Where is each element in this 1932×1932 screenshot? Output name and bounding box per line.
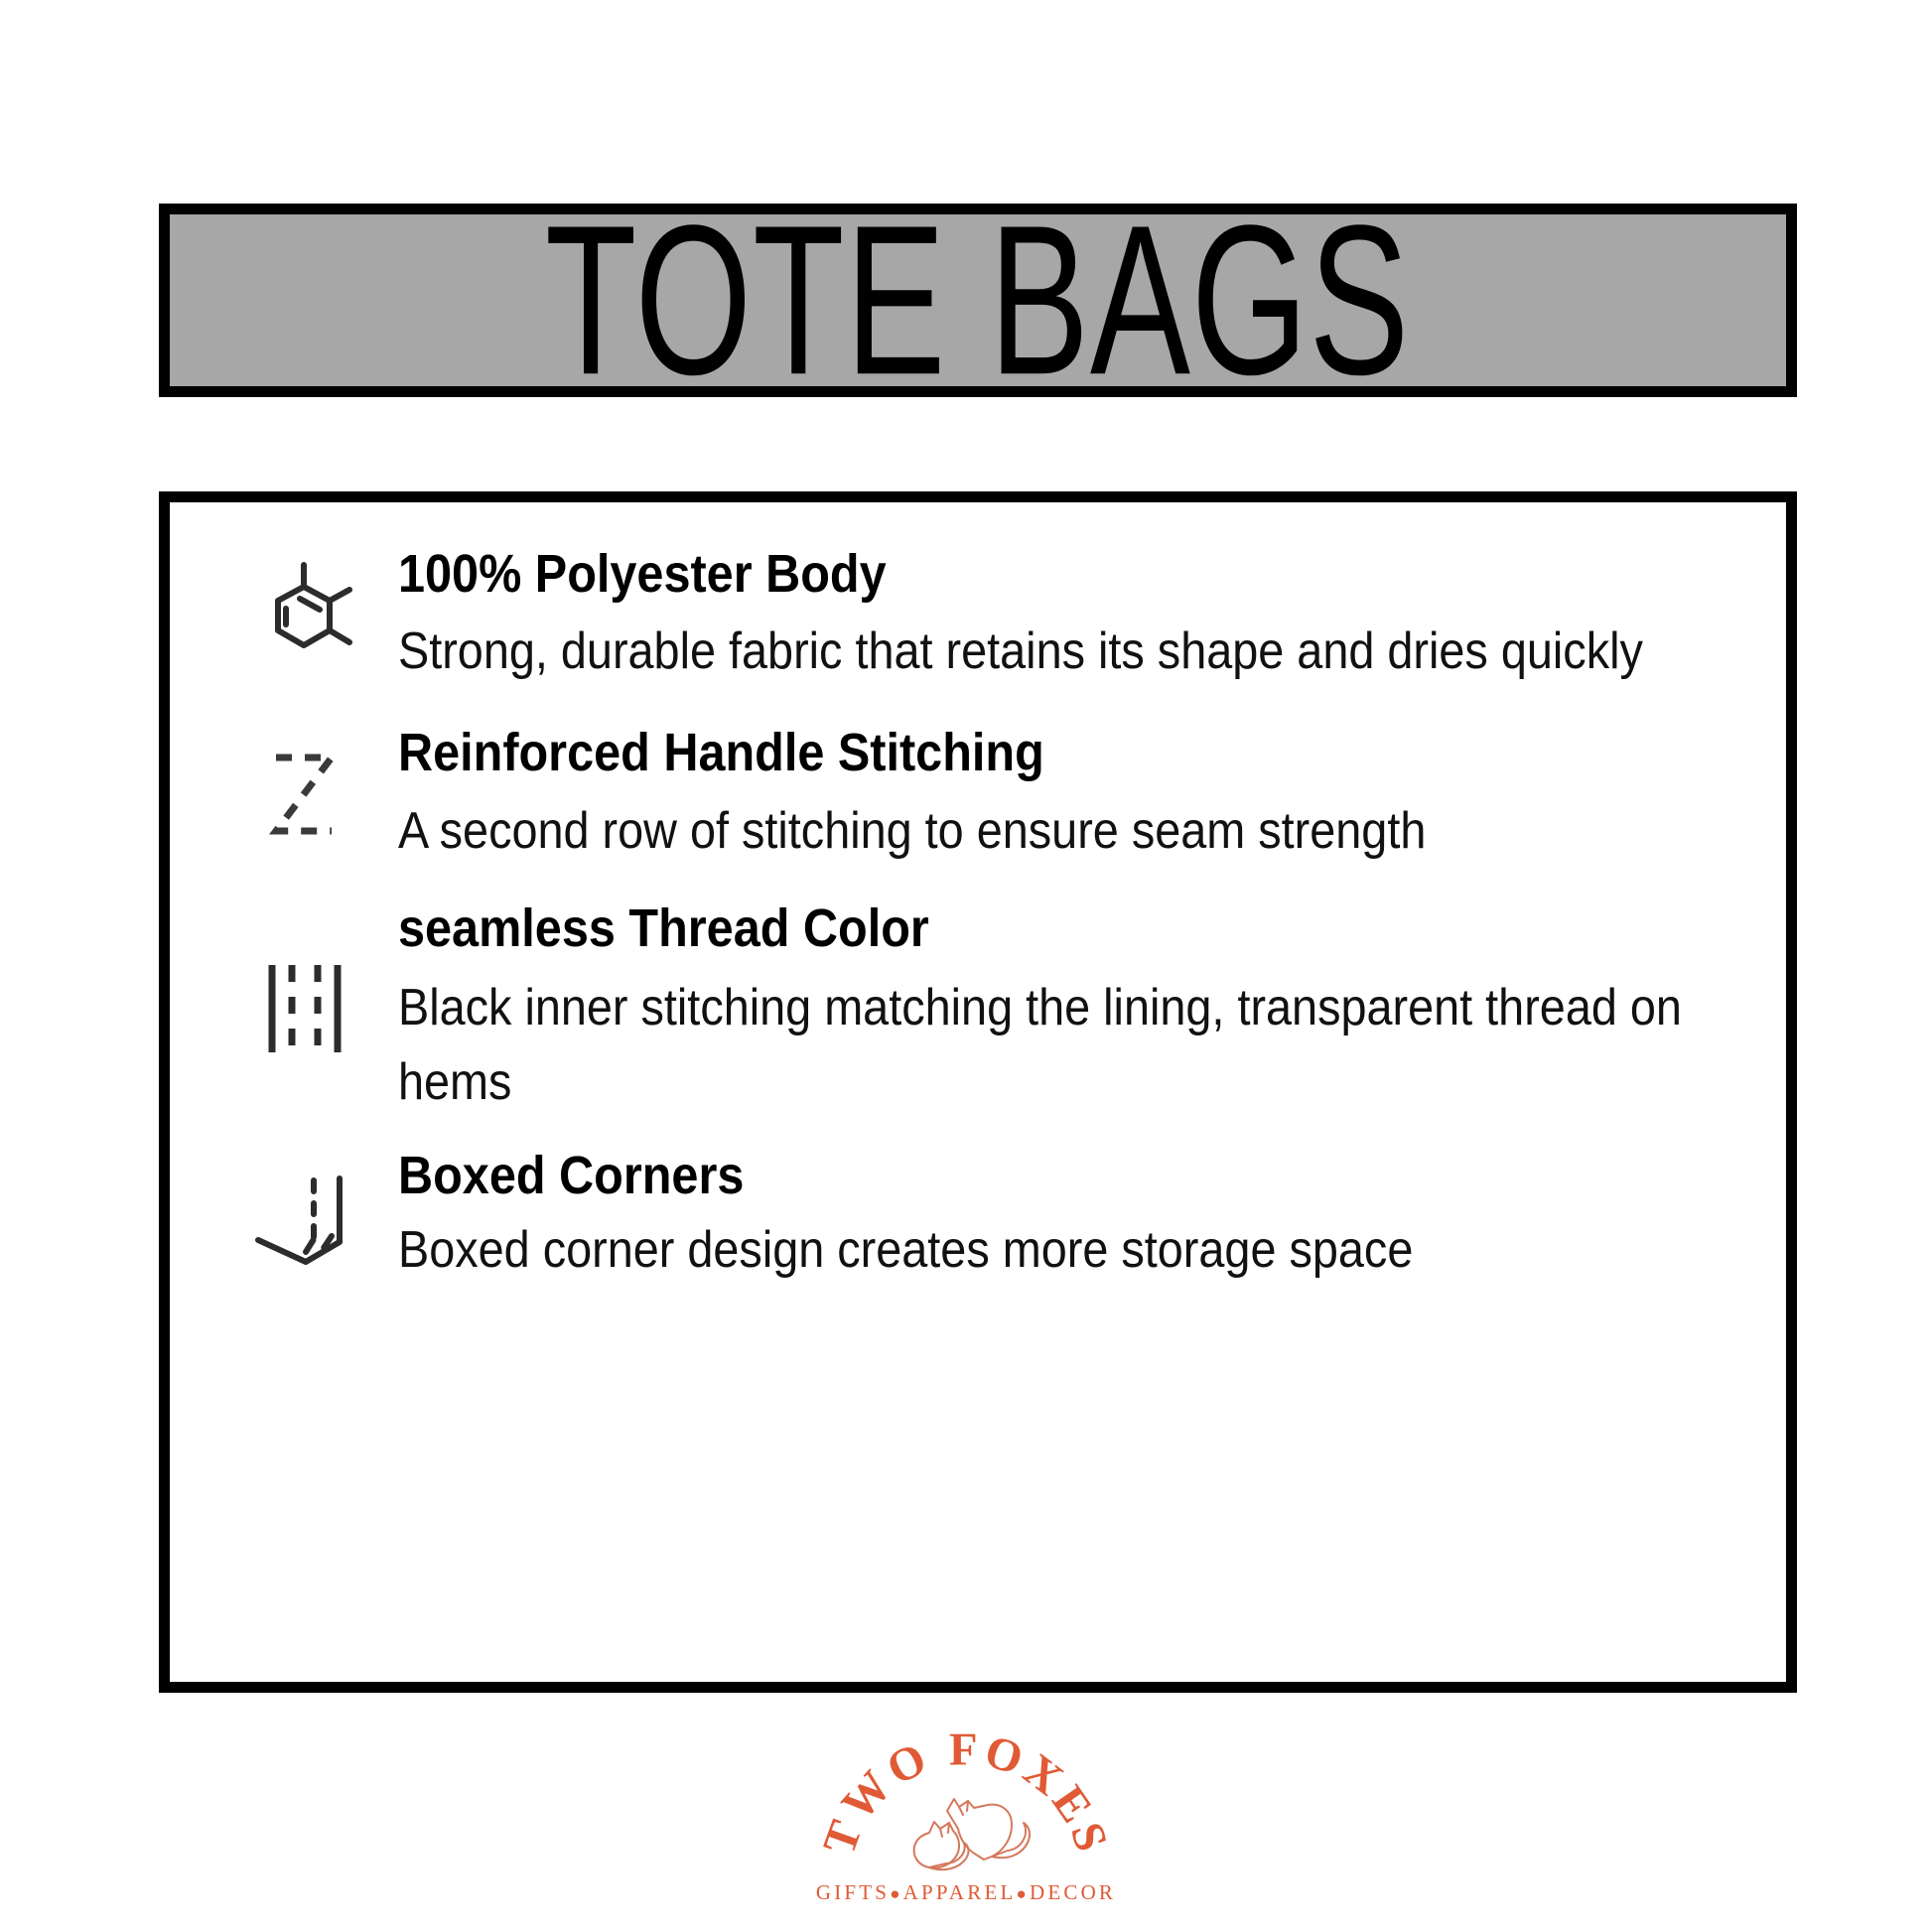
feature-text: 100% Polyester Body Strong, durable fabr… (398, 544, 1746, 689)
title-banner: TOTE BAGS (159, 204, 1797, 397)
feature-description: A second row of stitching to ensure seam… (398, 794, 1745, 869)
feature-list: 100% Polyester Body Strong, durable fabr… (209, 544, 1746, 1288)
feature-item: Boxed Corners Boxed corner design create… (209, 1146, 1746, 1289)
logo-mark: TWO FOXES (817, 1727, 1115, 1886)
feature-description: Boxed corner design creates more storage… (398, 1213, 1745, 1288)
feature-title: Reinforced Handle Stitching (398, 725, 1611, 781)
zigzag-stitch-icon (209, 736, 398, 855)
features-box: 100% Polyester Body Strong, durable fabr… (159, 491, 1797, 1693)
brand-logo: TWO FOXES GIFTS●APPAREL●DECOR (0, 1727, 1932, 1926)
svg-text:TWO FOXES: TWO FOXES (817, 1727, 1115, 1862)
tagline-separator-1: ● (890, 1884, 902, 1903)
feature-item: seamless Thread Color Black inner stitch… (209, 898, 1746, 1119)
feature-title: seamless Thread Color (398, 900, 1611, 957)
molecule-hexagon-icon (209, 557, 398, 676)
feature-item: Reinforced Handle Stitching A second row… (209, 723, 1746, 870)
tagline-separator-2: ● (1017, 1884, 1030, 1903)
feature-text: Boxed Corners Boxed corner design create… (398, 1146, 1746, 1289)
feature-text: seamless Thread Color Black inner stitch… (398, 898, 1746, 1119)
page-title: TOTE BAGS (545, 194, 1410, 407)
seam-stitch-lines-icon (209, 949, 398, 1068)
feature-text: Reinforced Handle Stitching A second row… (398, 723, 1746, 870)
feature-title: Boxed Corners (398, 1148, 1611, 1204)
feature-description: Black inner stitching matching the linin… (398, 971, 1745, 1120)
boxed-corner-icon (209, 1157, 398, 1276)
feature-title: 100% Polyester Body (398, 546, 1611, 603)
infographic-page: TOTE BAGS (0, 0, 1932, 1932)
feature-item: 100% Polyester Body Strong, durable fabr… (209, 544, 1746, 689)
feature-description: Strong, durable fabric that retains its … (398, 615, 1745, 689)
